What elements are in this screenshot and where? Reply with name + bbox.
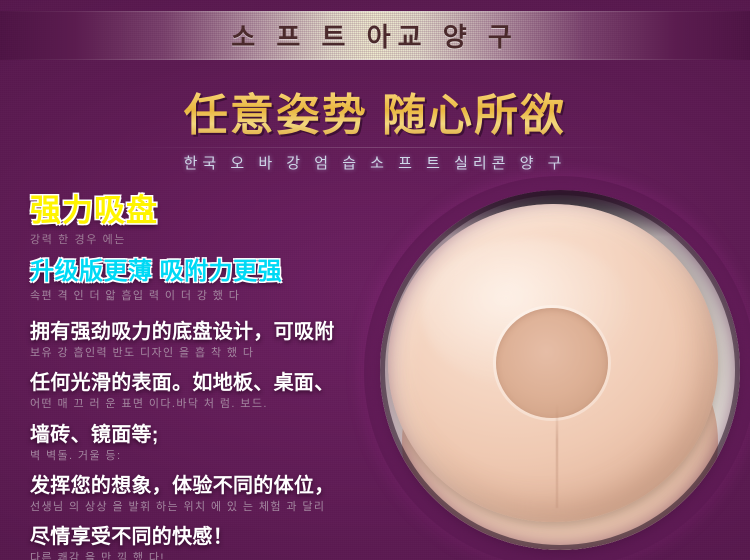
- subfeature-heading-kr: 속편 격 인 더 앏 흡입 력 이 더 강 했 다: [30, 289, 370, 303]
- copy-line: 发挥您的想象，体验不同的体位， 선생님 의 상상 을 발휘 하는 위치 에 있 …: [30, 474, 370, 514]
- spacer: [30, 247, 370, 258]
- spacer: [30, 463, 370, 474]
- hero-subtitle: 한국 오 바 강 엄 습 소 프 트 실리콘 양 구: [0, 152, 750, 173]
- top-banner: 소 프 트 아교 양 구: [0, 11, 750, 60]
- copy-column: 强力吸盘 강력 한 경우 에는 升级版更薄 吸附力更强 속편 격 인 더 앏 흡…: [30, 193, 370, 560]
- spacer: [30, 412, 370, 423]
- banner-title: 소 프 트 아교 양 구: [0, 11, 750, 60]
- feature-heading-kr: 강력 한 경우 에는: [30, 233, 370, 247]
- subtitle-divider: [120, 147, 630, 148]
- copy-line-cn: 拥有强劲吸力的底盘设计，可吸附: [30, 320, 370, 344]
- copy-line-cn: 墙砖、镜面等;: [30, 423, 370, 447]
- product-rim: [380, 190, 740, 550]
- copy-line-cn: 任何光滑的表面。如地板、桌面、: [30, 371, 370, 395]
- hero-headline: 任意姿势 随心所欲: [0, 79, 750, 143]
- product-disc: [380, 190, 740, 550]
- copy-line-kr: 다른 쾌감 을 만 끽 했 다!: [30, 551, 370, 560]
- spacer: [30, 360, 370, 371]
- product-image: [380, 190, 740, 560]
- copy-line-cn: 发挥您的想象，体验不同的体位，: [30, 474, 370, 498]
- copy-line-kr: 선생님 의 상상 을 발휘 하는 위치 에 있 는 체험 과 달리: [30, 500, 370, 514]
- copy-line: 任何光滑的表面。如地板、桌面、 어떤 매 끄 러 운 표면 이다.바닥 처 럼.…: [30, 371, 370, 411]
- copy-line-kr: 어떤 매 끄 러 운 표면 이다.바닥 처 럼. 보드.: [30, 397, 370, 411]
- copy-line: 墙砖、镜面等; 벽 벽돌. 거울 등:: [30, 423, 370, 463]
- feature-heading-cn: 强力吸盘: [30, 193, 370, 230]
- copy-line: 拥有强劲吸力的底盘设计，可吸附 보유 강 흡인력 반도 디자인 을 흡 착 했 …: [30, 320, 370, 360]
- spacer: [30, 303, 370, 320]
- copy-line-kr: 보유 강 흡인력 반도 디자인 을 흡 착 했 다: [30, 346, 370, 360]
- feature-heading-block: 强力吸盘 강력 한 경우 에는: [30, 193, 370, 247]
- subfeature-heading-block: 升级版更薄 吸附力更强 속편 격 인 더 앏 흡입 력 이 더 강 했 다: [30, 258, 370, 303]
- copy-line-cn: 尽情享受不同的快感！: [30, 525, 370, 549]
- spacer: [30, 514, 370, 525]
- promo-page: 소 프 트 아교 양 구 任意姿势 随心所欲 한국 오 바 강 엄 습 소 프 …: [0, 0, 750, 560]
- subfeature-heading-cn: 升级版更薄 吸附力更强: [30, 258, 370, 287]
- copy-line: 尽情享受不同的快感！ 다른 쾌감 을 만 끽 했 다!: [30, 525, 370, 560]
- copy-line-kr: 벽 벽돌. 거울 등:: [30, 449, 370, 463]
